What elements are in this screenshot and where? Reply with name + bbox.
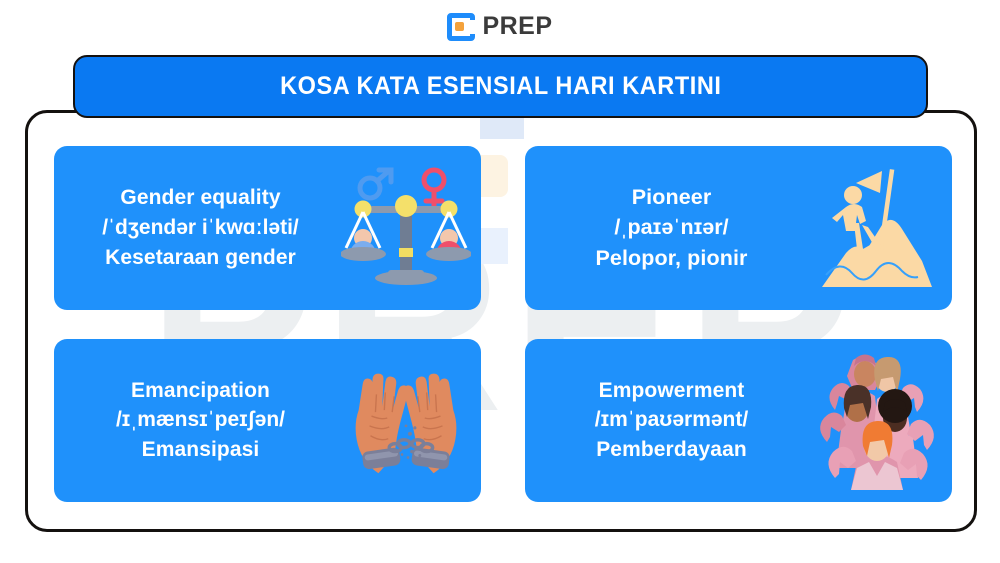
card-text-block: Emancipation /ɪˌmænsɪˈpeɪʃən/ Emansipasi [58, 376, 337, 465]
balance-scale-gender-icon [337, 158, 475, 298]
card-emancipation[interactable]: Emancipation /ɪˌmænsɪˈpeɪʃən/ Emansipasi [54, 339, 481, 503]
card-pioneer[interactable]: Pioneer /ˌpaɪəˈnɪər/ Pelopor, pionir [525, 146, 952, 310]
translation-label: Pemberdayaan [535, 435, 808, 465]
term-label: Pioneer [535, 182, 808, 213]
women-flexing-group-icon [808, 350, 946, 490]
poster-page: PREP KOSA KATA ESENSIAL HARI KARTINI PRE… [0, 0, 1000, 563]
brand-logo: PREP [0, 12, 1000, 41]
poster-title-bar: KOSA KATA ESENSIAL HARI KARTINI [73, 55, 928, 118]
term-label: Gender equality [64, 183, 337, 213]
translation-label: Pelopor, pionir [535, 243, 808, 274]
card-empowerment[interactable]: Empowerment /ɪmˈpaʊərmənt/ Pemberdayaan [525, 339, 952, 503]
card-gender-equality[interactable]: Gender equality /ˈdʒendər iˈkwɑːləti/ Ke… [54, 146, 481, 310]
prep-logo-icon [447, 13, 475, 41]
card-text-block: Empowerment /ɪmˈpaʊərmənt/ Pemberdayaan [529, 376, 808, 465]
translation-label: Kesetaraan gender [64, 243, 337, 273]
ipa-label: /ˌpaɪəˈnɪər/ [535, 212, 808, 243]
page-title: KOSA KATA ESENSIAL HARI KARTINI [280, 72, 721, 101]
mountain-flag-climber-icon [808, 158, 946, 298]
card-text-block: Gender equality /ˈdʒendər iˈkwɑːləti/ Ke… [58, 183, 337, 272]
ipa-label: /ˈdʒendər iˈkwɑːləti/ [64, 213, 337, 243]
ipa-label: /ɪmˈpaʊərmənt/ [535, 405, 808, 435]
term-label: Empowerment [535, 376, 808, 406]
vocabulary-board: PREP Gender equality /ˈdʒendər iˈkwɑːlət… [25, 110, 977, 532]
card-text-block: Pioneer /ˌpaɪəˈnɪər/ Pelopor, pionir [529, 182, 808, 274]
broken-shackles-hands-icon [337, 350, 475, 490]
term-label: Emancipation [64, 376, 337, 406]
translation-label: Emansipasi [64, 435, 337, 465]
vocabulary-grid: Gender equality /ˈdʒendər iˈkwɑːləti/ Ke… [28, 113, 977, 532]
ipa-label: /ɪˌmænsɪˈpeɪʃən/ [64, 405, 337, 435]
brand-name: PREP [482, 12, 552, 41]
